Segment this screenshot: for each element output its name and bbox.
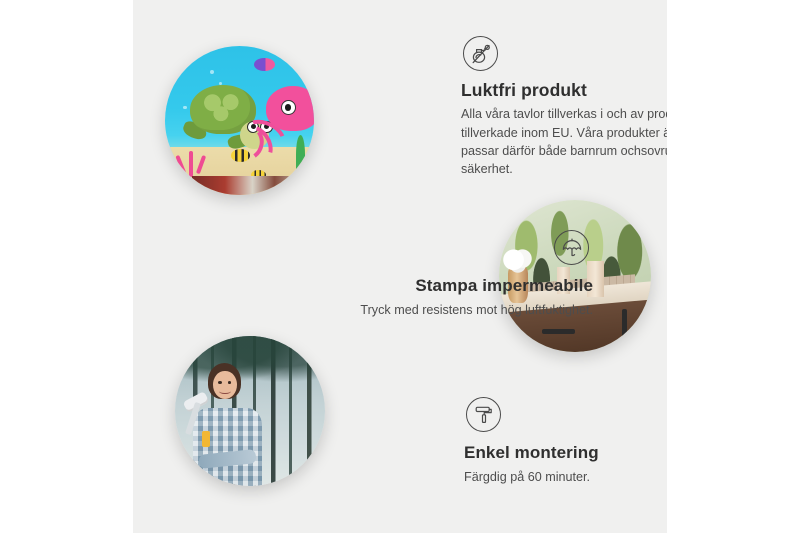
feature-body: Alla våra tavlor tillverkas i och av pro…	[461, 105, 667, 179]
feature-title: Luktfri produkt	[461, 80, 667, 100]
woman-plaid-shirt	[193, 408, 262, 486]
ocean-foreground-strip	[192, 176, 302, 195]
feature-waterproof: Stampa impermeabile Tryck med resistens …	[338, 230, 593, 319]
umbrella-icon	[554, 230, 589, 265]
forest-artwork	[175, 336, 325, 486]
woman-paint-roller-circle-image	[175, 336, 325, 486]
paint-roller-icon	[466, 397, 501, 432]
feature-title: Enkel montering	[464, 443, 667, 463]
feature-body: Färgdig på 60 minuter.	[464, 468, 667, 486]
underwater-artwork	[165, 46, 314, 195]
woman-face	[213, 371, 237, 400]
paint-roller-grip	[202, 431, 210, 448]
feature-odorless: Luktfri produkt Alla våra tavlor tillver…	[461, 36, 667, 179]
content-panel: Luktfri produkt Alla våra tavlor tillver…	[133, 0, 667, 533]
coral	[171, 138, 216, 177]
seaweed	[296, 135, 305, 174]
yellow-fish-icon	[231, 149, 250, 162]
underwater-cartoon-circle-image	[165, 46, 314, 195]
forest-canopy	[175, 336, 325, 390]
cabinet-handle	[542, 329, 575, 334]
feature-body: Tryck med resistens mot hög luftfuktighe…	[338, 301, 593, 319]
feature-easy: Enkel montering Färgdig på 60 minuter.	[464, 397, 667, 486]
woman-eye	[218, 381, 222, 384]
woman-smile	[219, 389, 231, 395]
feature-title: Stampa impermeabile	[338, 276, 593, 296]
page-root: Luktfri produkt Alla våra tavlor tillver…	[0, 0, 800, 533]
cabinet-handle	[622, 309, 627, 342]
octopus-eye	[281, 100, 296, 115]
no-odor-spray-bottle-icon	[463, 36, 498, 71]
bubble-icon	[183, 106, 187, 110]
